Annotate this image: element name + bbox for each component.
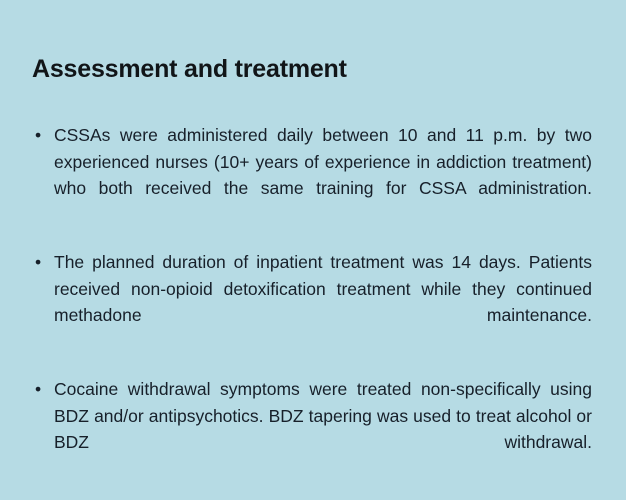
bullet-list-item: • The planned duration of inpatient trea… xyxy=(32,249,592,355)
presentation-slide: Assessment and treatment • CSSAs were ad… xyxy=(0,0,626,500)
bullet-item-text: CSSAs were administered daily between 10… xyxy=(54,122,592,228)
bullet-point-icon: • xyxy=(35,376,41,403)
bullet-list-item: • Cocaine withdrawal symptoms were treat… xyxy=(32,376,592,482)
bullet-item-text: Cocaine withdrawal symptoms were treated… xyxy=(54,376,592,482)
bullet-point-icon: • xyxy=(35,249,41,276)
bullet-item-text: The planned duration of inpatient treatm… xyxy=(54,249,592,355)
bullet-list-item: • CSSAs were administered daily between … xyxy=(32,122,592,228)
bullet-point-icon: • xyxy=(35,122,41,149)
slide-body: • CSSAs were administered daily between … xyxy=(32,122,592,482)
slide-title: Assessment and treatment xyxy=(32,55,347,84)
